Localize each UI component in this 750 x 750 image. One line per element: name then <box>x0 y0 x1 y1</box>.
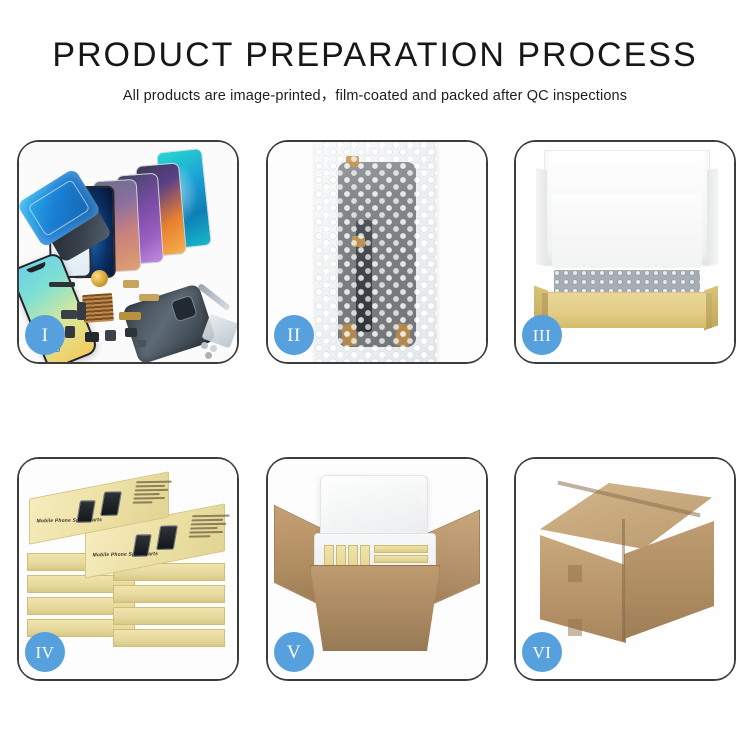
process-step-6: VI <box>514 457 736 681</box>
process-step-3: III <box>514 140 736 364</box>
step-badge-2: II <box>274 315 314 355</box>
step-badge-1: I <box>25 315 65 355</box>
step-badge-5: V <box>274 632 314 672</box>
step-badge-3: III <box>522 315 562 355</box>
process-step-4: Mobile Phone Spare Parts Mobile Phone Sp… <box>17 457 239 681</box>
page-title: PRODUCT PREPARATION PROCESS <box>0 38 750 74</box>
product-preparation-infographic: PRODUCT PREPARATION PROCESS All products… <box>0 0 750 750</box>
step-badge-6: VI <box>522 632 562 672</box>
step-badge-4: IV <box>25 632 65 672</box>
process-step-1: I <box>17 140 239 364</box>
process-step-grid: I II <box>17 140 736 685</box>
header: PRODUCT PREPARATION PROCESS All products… <box>0 38 750 105</box>
process-step-5: V <box>266 457 488 681</box>
page-subtitle: All products are image-printed，film-coat… <box>0 84 750 105</box>
process-step-2: II <box>266 140 488 364</box>
